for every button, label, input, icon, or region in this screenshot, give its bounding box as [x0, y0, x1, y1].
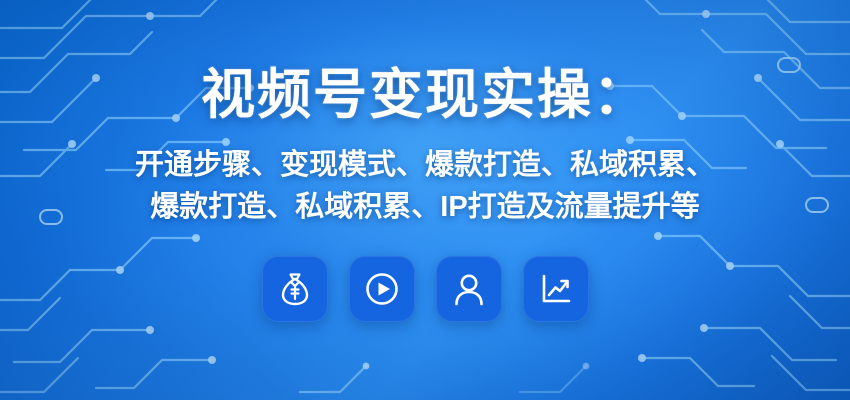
promo-banner: 视频号变现实操： 开通步骤、变现模式、爆款打造、私域积累、 爆款打造、私域积累、… [0, 0, 850, 400]
user-person-icon [450, 270, 488, 308]
page-title: 视频号变现实操： [201, 66, 649, 125]
subtitle-line-2: 爆款打造、私域积累、IP打造及流量提升等 [135, 187, 715, 228]
icon-row [262, 256, 589, 322]
user-person-icon-tile[interactable] [436, 256, 502, 322]
play-button-icon [363, 270, 401, 308]
money-bag-icon [276, 270, 314, 308]
play-button-icon-tile[interactable] [349, 256, 415, 322]
subtitle-block: 开通步骤、变现模式、爆款打造、私域积累、 爆款打造、私域积累、IP打造及流量提升… [135, 145, 715, 227]
growth-chart-icon-tile[interactable] [523, 256, 589, 322]
growth-chart-icon [537, 270, 575, 308]
money-bag-icon-tile[interactable] [262, 256, 328, 322]
subtitle-line-1: 开通步骤、变现模式、爆款打造、私域积累、 [135, 145, 715, 186]
banner-content: 视频号变现实操： 开通步骤、变现模式、爆款打造、私域积累、 爆款打造、私域积累、… [0, 0, 850, 400]
